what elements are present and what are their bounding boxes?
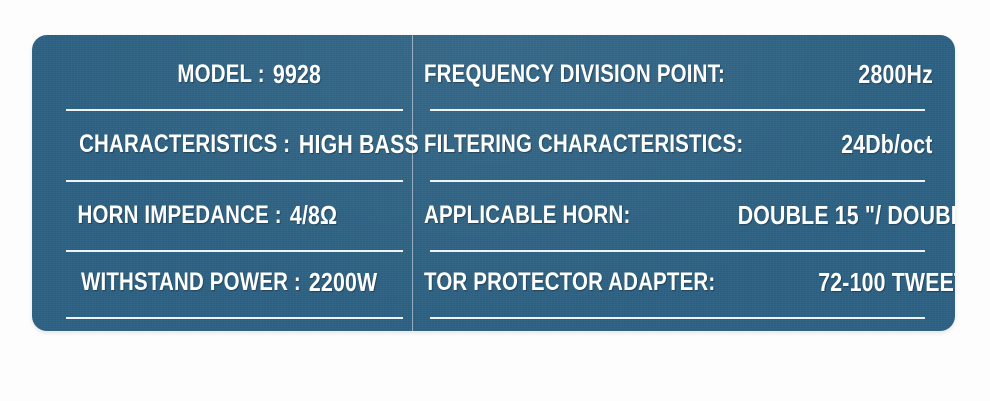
row-rule-left-4 (66, 317, 403, 319)
spec-cell-model: MODEL : 9928 (32, 39, 412, 109)
spec-value-horn-impedance: 4/8Ω (285, 200, 383, 231)
spec-value-frequency-division-point: 2800Hz (817, 59, 933, 90)
spec-cell-withstand-power: WITHSTAND POWER : 2200W (32, 247, 412, 317)
spec-value-characteristics: HIGH BASS (294, 129, 406, 160)
spec-label-model: MODEL : (74, 60, 268, 89)
spec-value-withstand-power: 2200W (304, 267, 386, 298)
spec-label-withstand-power: WITHSTAND POWER : (81, 268, 304, 297)
spec-cell-characteristics: CHARACTERISTICS : HIGH BASS (32, 109, 412, 179)
spec-value-tor-protector-adapter: 72-100 TWEETER (819, 267, 955, 298)
spec-row-withstand-power: WITHSTAND POWER : 2200W TOR PROTECTOR AD… (32, 247, 955, 317)
spec-row-horn-impedance: HORN IMPEDANCE : 4/8Ω APPLICABLE HORN: D… (32, 180, 955, 250)
spec-label-characteristics: CHARACTERISTICS : (79, 130, 293, 159)
spec-label-frequency-division-point: FREQUENCY DIVISION POINT: (424, 60, 725, 89)
spec-cell-tor-protector-adapter: TOR PROTECTOR ADAPTER: 72-100 TWEETER (412, 247, 955, 317)
spec-value-model: 9928 (268, 59, 380, 90)
spec-label-horn-impedance: HORN IMPEDANCE : (78, 201, 285, 230)
spec-value-applicable-horn: DOUBLE 15 "/ DOUBLE 18" (738, 200, 955, 231)
spec-label-filtering-characteristics: FILTERING CHARACTERISTICS: (424, 130, 743, 159)
spec-label-applicable-horn: APPLICABLE HORN: (424, 201, 630, 230)
specification-panel: MODEL : 9928 FREQUENCY DIVISION POINT: 2… (32, 35, 955, 331)
spec-cell-filtering-characteristics: FILTERING CHARACTERISTICS: 24Db/oct (412, 109, 955, 179)
spec-cell-frequency-division-point: FREQUENCY DIVISION POINT: 2800Hz (412, 39, 955, 109)
spec-row-characteristics: CHARACTERISTICS : HIGH BASS FILTERING CH… (32, 109, 955, 179)
spec-cell-horn-impedance: HORN IMPEDANCE : 4/8Ω (32, 180, 412, 250)
spec-cell-applicable-horn: APPLICABLE HORN: DOUBLE 15 "/ DOUBLE 18" (412, 180, 955, 250)
spec-table: MODEL : 9928 FREQUENCY DIVISION POINT: 2… (32, 35, 955, 331)
spec-row-model: MODEL : 9928 FREQUENCY DIVISION POINT: 2… (32, 39, 955, 109)
spec-label-tor-protector-adapter: TOR PROTECTOR ADAPTER: (424, 268, 715, 297)
row-rule-right-4 (430, 317, 925, 319)
spec-value-filtering-characteristics: 24Db/oct (835, 129, 933, 160)
